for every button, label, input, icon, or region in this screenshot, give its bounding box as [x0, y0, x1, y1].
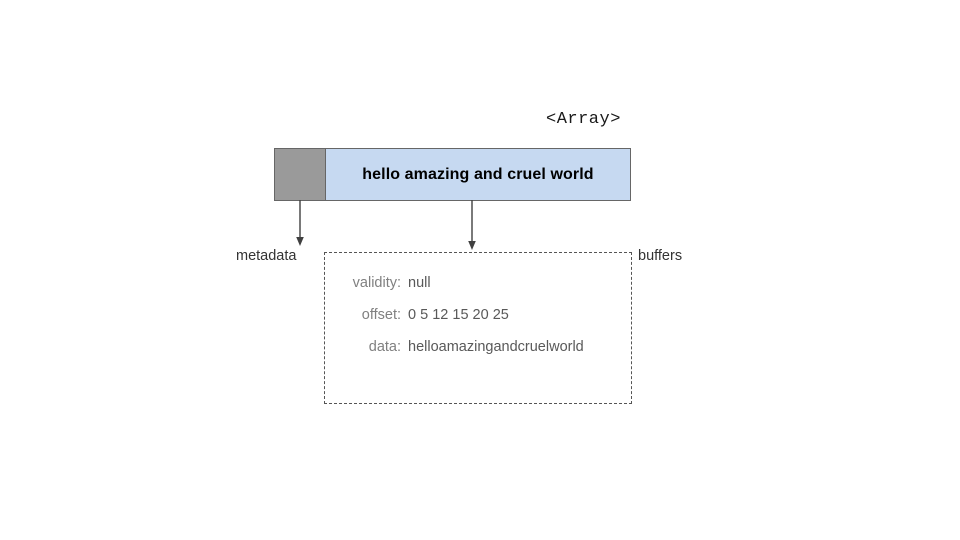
array-box: hello amazing and cruel world — [274, 148, 631, 201]
buffer-separator: : — [397, 307, 408, 323]
buffer-value-validity: null — [408, 275, 431, 291]
metadata-arrow — [288, 200, 312, 248]
array-metadata-segment — [275, 149, 326, 200]
buffer-value-data: helloamazingandcruelworld — [408, 339, 584, 355]
diagram-canvas: <Array> hello amazing and cruel world me… — [0, 0, 960, 540]
buffers-caption: buffers — [638, 248, 682, 264]
buffer-key-validity: validity — [337, 275, 397, 291]
buffer-separator: : — [397, 275, 408, 291]
buffer-value-offset: 0 5 12 15 20 25 — [408, 307, 509, 323]
buffer-row: data : helloamazingandcruelworld — [337, 339, 627, 371]
array-data-segment-label: hello amazing and cruel world — [362, 166, 593, 184]
buffer-key-data: data — [337, 339, 397, 355]
buffer-key-offset: offset — [337, 307, 397, 323]
array-data-segment: hello amazing and cruel world — [326, 149, 630, 200]
buffer-separator: : — [397, 339, 408, 355]
array-type-label: <Array> — [546, 110, 621, 129]
buffer-row-list: validity : null offset : 0 5 12 15 20 25… — [337, 275, 627, 371]
buffers-arrow — [460, 200, 484, 252]
buffer-row: offset : 0 5 12 15 20 25 — [337, 307, 627, 339]
metadata-caption: metadata — [236, 248, 296, 264]
buffer-row: validity : null — [337, 275, 627, 307]
